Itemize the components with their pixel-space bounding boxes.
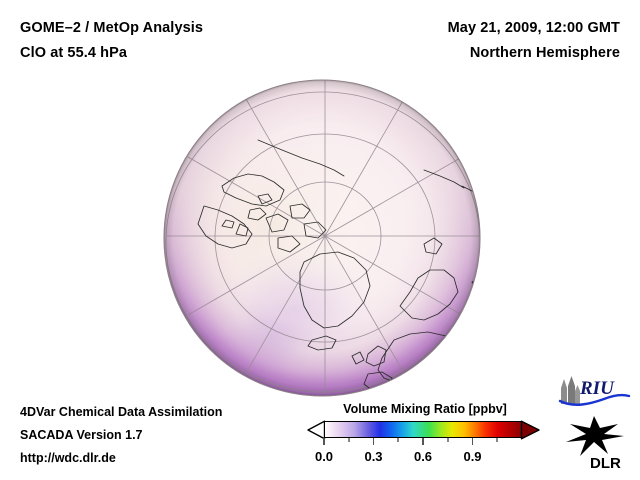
footer-line-url[interactable]: http://wdc.dlr.de — [20, 447, 222, 470]
colorbar-extend-right-arrow — [520, 420, 542, 440]
riu-spires-icon — [561, 376, 580, 404]
riu-logo: RIU — [556, 374, 632, 408]
colorbar-graphic — [306, 419, 544, 441]
globe-rim-shadow — [164, 80, 480, 396]
footer-credits: 4DVar Chemical Data Assimilation SACADA … — [20, 401, 222, 470]
colorbar-tick-label: 0.9 — [463, 449, 481, 464]
header-right: May 21, 2009, 12:00 GMT Northern Hemisph… — [448, 16, 620, 66]
colorbar-minor-tick — [447, 438, 449, 442]
species-level-title: ClO at 55.4 hPa — [20, 41, 203, 66]
colorbar-tick-label: 0.0 — [315, 449, 333, 464]
colorbar-tick-labels: 0.00.30.60.9 — [306, 449, 544, 467]
globe-svg — [162, 78, 482, 398]
globe-map — [162, 78, 482, 398]
datetime-label: May 21, 2009, 12:00 GMT — [448, 16, 620, 41]
colorbar-tick-label: 0.3 — [364, 449, 382, 464]
colorbar-ticks — [324, 438, 522, 445]
colorbar-gradient — [324, 421, 522, 438]
dlr-logo: DLR — [560, 414, 630, 472]
header-left: GOME–2 / MetOp Analysis ClO at 55.4 hPa — [20, 16, 203, 66]
colorbar-tick-label: 0.6 — [414, 449, 432, 464]
colorbar-minor-tick — [348, 438, 350, 442]
hemisphere-label: Northern Hemisphere — [448, 41, 620, 66]
colorbar-title: Volume Mixing Ratio [ppbv] — [306, 402, 544, 416]
dlr-wordmark: DLR — [590, 455, 621, 472]
colorbar-major-tick — [422, 438, 424, 445]
colorbar-minor-tick — [496, 438, 498, 442]
footer-line-method: 4DVar Chemical Data Assimilation — [20, 401, 222, 424]
colorbar: Volume Mixing Ratio [ppbv] 0.00.30.60.9 — [306, 402, 544, 467]
colorbar-major-tick — [323, 438, 325, 445]
footer-line-version: SACADA Version 1.7 — [20, 424, 222, 447]
colorbar-major-tick — [373, 438, 375, 445]
colorbar-minor-tick — [397, 438, 399, 442]
dlr-mark-icon — [566, 416, 624, 456]
instrument-title: GOME–2 / MetOp Analysis — [20, 16, 203, 41]
colorbar-major-tick — [472, 438, 474, 445]
colorbar-extend-left-arrow — [306, 420, 326, 440]
